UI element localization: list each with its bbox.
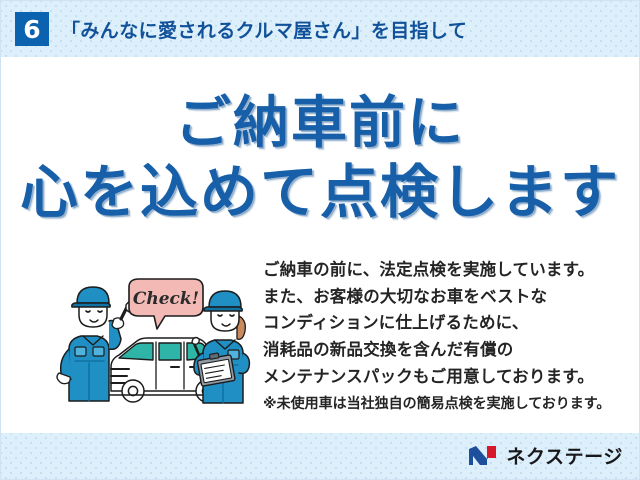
body-line: ご納車の前に、法定点検を実施しています。 <box>263 260 594 279</box>
body-line: メンテナンスパックもご用意しております。 <box>263 367 594 386</box>
step-number-badge: 6 <box>15 12 49 46</box>
brand-name: ネクステージ <box>506 442 623 469</box>
body-copy: ご納車の前に、法定点検を実施しています。 また、お客様の大切なお車をベストな コ… <box>263 257 623 415</box>
body-line: また、お客様の大切なお車をベストな <box>263 287 547 306</box>
brand-logo: ネクステージ <box>467 442 623 469</box>
mechanics-illustration: Check! <box>53 263 259 413</box>
nextage-n-mark-icon <box>467 444 499 467</box>
body-footnote: ※未使用車は当社独自の簡易点検を実施しております。 <box>263 393 623 416</box>
advertisement-panel: 6 「みんなに愛されるクルマ屋さん」を目指して ご納車前に 心を込めて点検します <box>0 0 640 480</box>
headline-line-2: 心を込めて点検します <box>1 160 639 225</box>
body-line: コンディションに仕上げるために、 <box>263 313 529 332</box>
header-row: 6 「みんなに愛されるクルマ屋さん」を目指して <box>1 1 639 57</box>
check-bubble-label: Check! <box>133 289 199 309</box>
body-line: 消耗品の新品交換を含んだ有償の <box>263 340 514 359</box>
header-title: 「みんなに愛されるクルマ屋さん」を目指して <box>61 16 467 43</box>
headline-line-1: ご納車前に <box>1 93 639 156</box>
headline: ご納車前に 心を込めて点検します <box>1 93 639 225</box>
